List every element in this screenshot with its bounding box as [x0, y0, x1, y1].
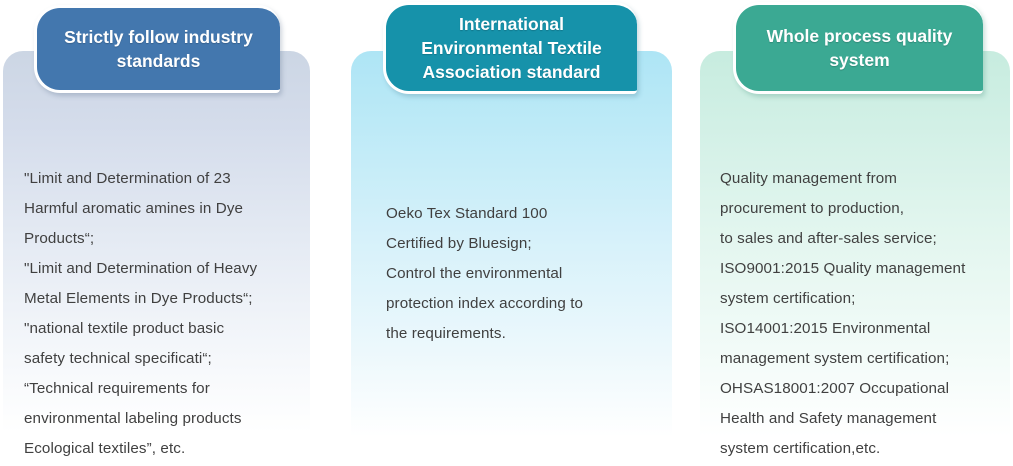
card-header-tab-3: Whole process quality system: [733, 2, 983, 94]
card-body-text-3: Quality management from procurement to p…: [720, 164, 1010, 464]
card-body-text-2: Oeko Tex Standard 100 Certified by Blues…: [386, 199, 661, 349]
standards-card-board: "Limit and Determination of 23 Harmful a…: [0, 0, 1013, 466]
card-international-environmental-textile-association-standard: Oeko Tex Standard 100 Certified by Blues…: [351, 51, 672, 466]
card-header-title-3: Whole process quality system: [767, 24, 953, 72]
card-header-title-2: International Environmental Textile Asso…: [421, 12, 602, 84]
card-body-text-1: "Limit and Determination of 23 Harmful a…: [24, 164, 294, 464]
card-header-title-1: Strictly follow industry standards: [64, 25, 253, 73]
card-header-tab-2: International Environmental Textile Asso…: [383, 2, 637, 94]
card-strictly-follow-industry-standards: "Limit and Determination of 23 Harmful a…: [3, 51, 310, 466]
card-header-tab-1: Strictly follow industry standards: [34, 5, 280, 93]
card-whole-process-quality-system: Quality management from procurement to p…: [700, 51, 1010, 466]
